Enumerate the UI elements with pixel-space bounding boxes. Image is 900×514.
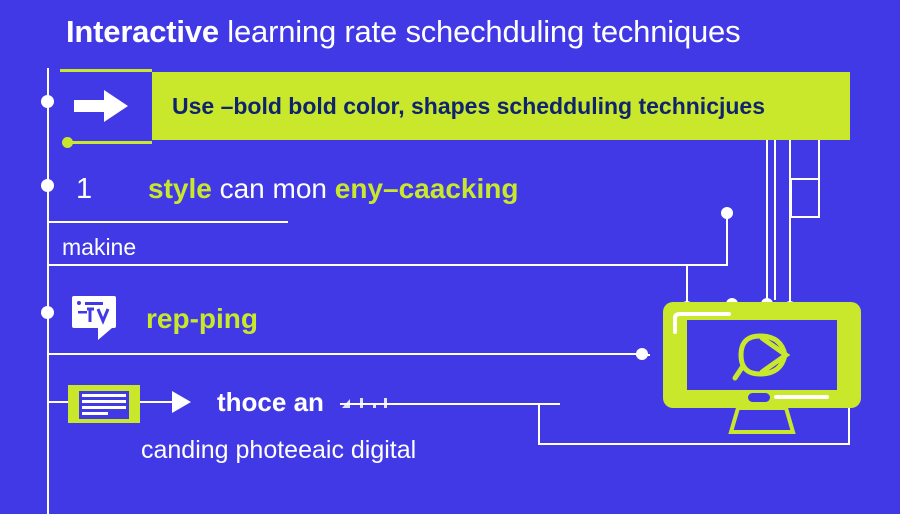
row3-text: rep-ping — [146, 297, 258, 341]
row2-segment-1: style — [148, 173, 212, 204]
row2-text: style can mon eny–caacking — [148, 166, 518, 212]
row3-segment-1: rep-ping — [146, 303, 258, 334]
title-rest-part: learning rate schechduling techniques — [219, 14, 740, 49]
rail-dot-row3 — [41, 306, 54, 319]
trace-h-f-bottom — [790, 216, 820, 218]
banner-highlight[interactable]: Use –bold bold color, shapes schedduling… — [152, 72, 850, 140]
rail-dot-row1 — [41, 95, 54, 108]
trace-v-d — [774, 140, 776, 300]
trace-v-b — [726, 212, 728, 266]
row4-text: thoce an — [217, 385, 324, 419]
row2-segment-3: eny–caacking — [335, 173, 519, 204]
trace-h-f-top — [790, 178, 820, 180]
diagram-canvas: Interactive learning rate schechduling t… — [0, 0, 900, 514]
trace-h-a — [686, 264, 728, 266]
chat-bubble-icon — [72, 296, 124, 340]
trace-v-c — [766, 140, 768, 308]
trace-v-f2 — [790, 178, 792, 218]
row2-number: 1 — [76, 166, 92, 212]
banner-accent-underline — [68, 141, 152, 144]
triangle-right-icon — [172, 391, 191, 413]
trace-dot-b — [721, 207, 733, 219]
computer-monitor-illustration — [663, 302, 861, 434]
connector-row-makine-top — [48, 264, 688, 266]
makine-label: makine — [62, 231, 136, 263]
connector-row3-bottom — [48, 353, 648, 355]
trace-v-e — [789, 140, 791, 310]
trace-dot-monitor-left — [636, 348, 648, 360]
connector-makine-underline — [48, 221, 288, 223]
page-title: Interactive learning rate schechduling t… — [66, 8, 866, 56]
trace-h-monitor-bottom — [640, 443, 850, 445]
connector-row4-drop — [538, 403, 540, 445]
rail-dot-row2 — [41, 179, 54, 192]
left-rail — [47, 68, 49, 514]
connector-row4-mid — [140, 401, 176, 403]
title-bold-part: Interactive — [66, 14, 219, 49]
banner-text: Use –bold bold color, shapes schedduling… — [172, 72, 765, 140]
row4-marks-icon — [340, 396, 400, 412]
document-list-icon — [68, 385, 140, 423]
arrow-right-icon — [74, 88, 130, 124]
row4-subtext: canding photeeaic digital — [141, 432, 416, 468]
row4-label: thoce an — [217, 387, 324, 417]
row2-segment-2: can mon — [212, 173, 335, 204]
